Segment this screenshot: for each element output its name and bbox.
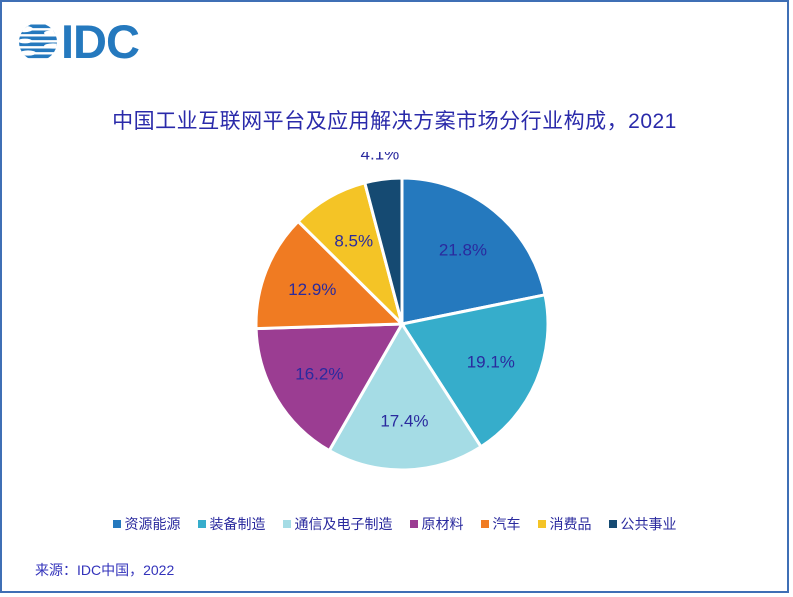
legend-item[interactable]: 装备制造: [198, 514, 266, 534]
legend-swatch-icon: [113, 520, 121, 528]
chart-title: 中国工业互联网平台及应用解决方案市场分行业构成，2021: [2, 105, 787, 135]
legend-item[interactable]: 资源能源: [113, 514, 181, 534]
legend-label: 公共事业: [621, 514, 677, 534]
logo-wordmark: IDC: [61, 20, 139, 64]
legend-swatch-icon: [609, 520, 617, 528]
legend-label: 汽车: [493, 514, 521, 534]
globe-icon: [16, 20, 60, 64]
pie-slice-label: 12.9%: [288, 280, 336, 299]
legend-label: 消费品: [550, 514, 592, 534]
legend-swatch-icon: [538, 520, 546, 528]
slide-frame: IDC 中国工业互联网平台及应用解决方案市场分行业构成，2021 21.8%19…: [0, 0, 789, 593]
chart-legend: 资源能源装备制造通信及电子制造原材料汽车消费品公共事业: [2, 514, 787, 534]
pie-chart: 21.8%19.1%17.4%16.2%12.9%8.5%4.1%: [2, 152, 791, 500]
pie-slice-label: 8.5%: [334, 232, 373, 251]
legend-swatch-icon: [410, 520, 418, 528]
pie-chart-svg: 21.8%19.1%17.4%16.2%12.9%8.5%4.1%: [2, 152, 791, 500]
legend-label: 原材料: [422, 514, 464, 534]
pie-slice-label: 19.1%: [467, 352, 515, 371]
legend-swatch-icon: [481, 520, 489, 528]
pie-slice-label: 17.4%: [380, 411, 428, 430]
legend-swatch-icon: [198, 520, 206, 528]
legend-label: 资源能源: [125, 514, 181, 534]
legend-item[interactable]: 公共事业: [609, 514, 677, 534]
pie-slice-label: 21.8%: [439, 240, 487, 259]
pie-slice-label: 16.2%: [295, 365, 343, 384]
legend-item[interactable]: 原材料: [410, 514, 464, 534]
pie-slice-label: 4.1%: [361, 152, 400, 163]
source-note: 来源：IDC中国，2022: [35, 560, 174, 580]
legend-swatch-icon: [283, 520, 291, 528]
legend-label: 通信及电子制造: [295, 514, 393, 534]
legend-item[interactable]: 通信及电子制造: [283, 514, 393, 534]
idc-logo: IDC: [16, 16, 139, 68]
legend-label: 装备制造: [210, 514, 266, 534]
legend-item[interactable]: 汽车: [481, 514, 521, 534]
legend-item[interactable]: 消费品: [538, 514, 592, 534]
